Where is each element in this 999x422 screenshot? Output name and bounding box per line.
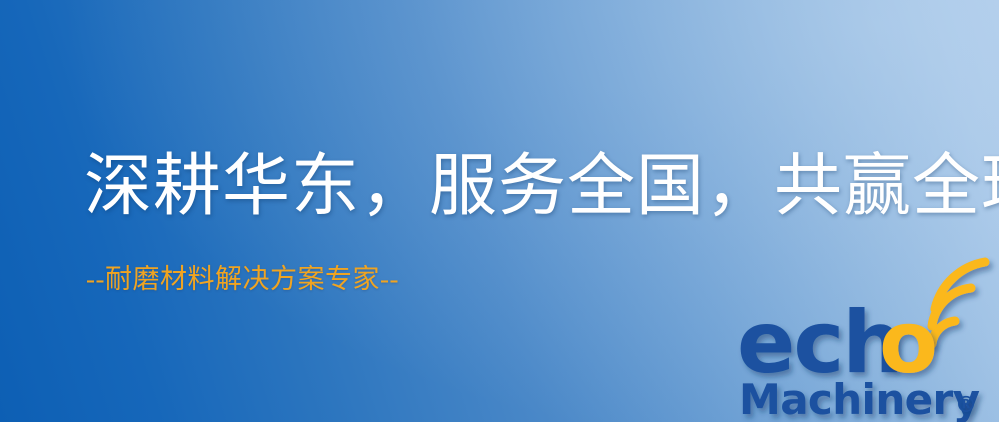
registered-trademark-icon: ® [955, 393, 977, 418]
signal-arcs-icon [932, 262, 985, 344]
echo-machinery-logo: ech o Machinery ® [739, 286, 997, 422]
banner-headline: 深耕华东，服务全国，共赢全球 [84, 152, 999, 220]
promo-banner: 深耕华东，服务全国，共赢全球 --耐磨材料解决方案专家-- ech o Mach… [0, 0, 999, 422]
banner-subtitle: --耐磨材料解决方案专家-- [86, 266, 399, 293]
logo-tagline: Machinery [739, 375, 980, 422]
